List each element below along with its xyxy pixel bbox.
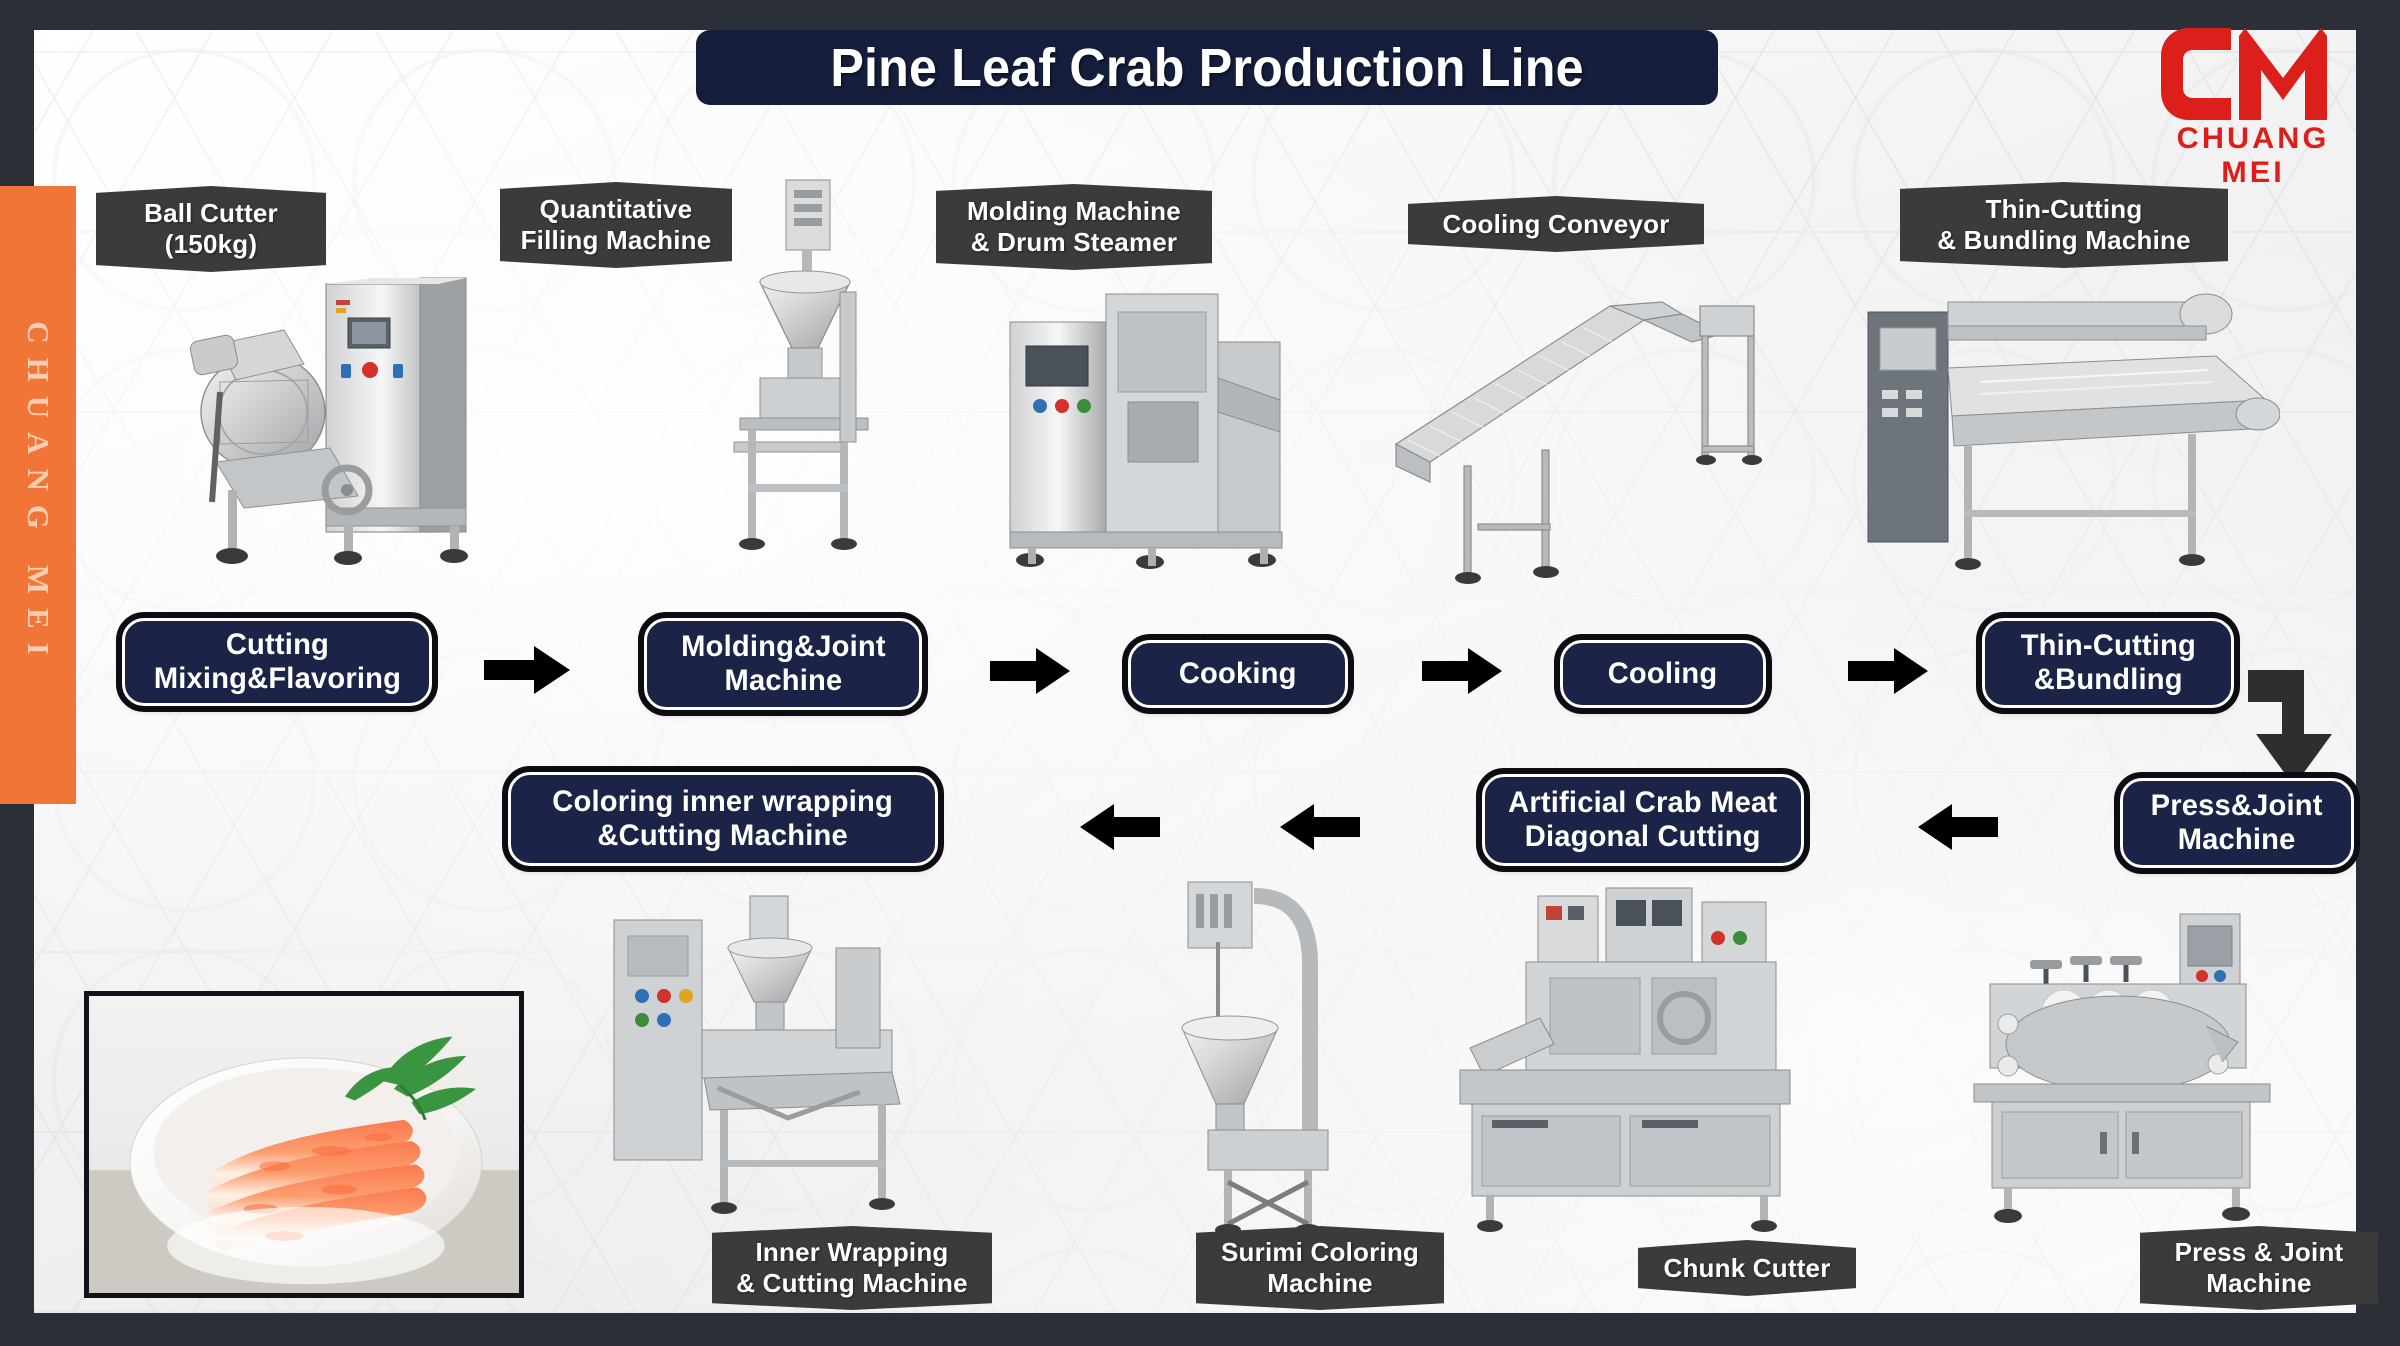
- thin-cutting-bundling-machine-photo: [1860, 282, 2280, 592]
- caption-line-1: Cooling Conveyor: [1442, 209, 1669, 240]
- caption-cooling-conveyor: Cooling Conveyor: [1408, 196, 1704, 252]
- process-line-1: Molding&Joint: [681, 630, 886, 664]
- arrow-elbow-down-icon: [2248, 668, 2356, 788]
- caption-line-1: Molding Machine: [967, 196, 1181, 227]
- arrow-right-icon-3: [1422, 646, 1502, 696]
- arrow-right-icon-2: [990, 646, 1070, 696]
- caption-line-2: & Bundling Machine: [1937, 225, 2190, 256]
- brand-sidebar: CHUANG MEI: [0, 186, 76, 804]
- arrow-left-icon-3: [1918, 802, 1998, 852]
- caption-line-2: Machine: [2206, 1268, 2311, 1299]
- process-line-2: Machine: [681, 664, 886, 698]
- process-cooling[interactable]: Cooling: [1560, 640, 1766, 708]
- process-molding-joint-machine[interactable]: Molding&Joint Machine: [644, 618, 922, 710]
- caption-surimi-coloring-machine: Surimi Coloring Machine: [1196, 1226, 1444, 1310]
- caption-inner-wrapping-cutting-machine: Inner Wrapping & Cutting Machine: [712, 1226, 992, 1310]
- press-joint-machine-photo: [1950, 908, 2330, 1238]
- page-title: Pine Leaf Crab Production Line: [696, 30, 1718, 105]
- arrow-right-icon-4: [1848, 646, 1928, 696]
- process-line-2: Mixing&Flavoring: [153, 662, 400, 696]
- process-line-1: Artificial Crab Meat: [1508, 786, 1777, 820]
- arrow-left-icon-1: [1080, 802, 1160, 852]
- arrow-left-icon-2: [1280, 802, 1360, 852]
- caption-line-1: Thin-Cutting: [1986, 194, 2143, 225]
- ball-cutter-photo: [158, 252, 488, 582]
- process-coloring-inner-wrapping-cutting-machine[interactable]: Coloring inner wrapping &Cutting Machine: [508, 772, 938, 866]
- process-line-1: Press&Joint: [2151, 789, 2323, 823]
- molding-machine-drum-steamer-photo: [1000, 282, 1300, 582]
- process-line-1: Cooking: [1179, 657, 1297, 691]
- process-line-1: Cutting: [153, 628, 400, 662]
- company-logo-wordmark: CHUANG MEI: [2146, 122, 2360, 190]
- cooling-conveyor-photo: [1382, 276, 1782, 600]
- caption-quantitative-filling-machine: Quantitative Filling Machine: [500, 182, 732, 268]
- caption-press-joint-machine: Press & Joint Machine: [2140, 1226, 2378, 1310]
- company-logo: CHUANG MEI: [2148, 22, 2358, 172]
- process-cutting-mixing-flavoring[interactable]: Cutting Mixing&Flavoring: [122, 618, 432, 706]
- brand-sidebar-label: CHUANG MEI: [20, 321, 56, 669]
- caption-thin-cutting-bundling-machine: Thin-Cutting & Bundling Machine: [1900, 182, 2228, 268]
- process-line-2: Diagonal Cutting: [1508, 820, 1777, 854]
- caption-line-2: & Drum Steamer: [971, 227, 1178, 258]
- chunk-cutter-photo: [1430, 878, 1830, 1240]
- caption-line-2: (150kg): [165, 229, 257, 260]
- caption-line-1: Quantitative: [540, 194, 693, 225]
- poster-root: CHUANG MEI Pine Leaf Crab Production Lin…: [0, 0, 2400, 1346]
- process-line-1: Thin-Cutting: [2020, 629, 2195, 663]
- caption-line-2: Machine: [1267, 1268, 1372, 1299]
- caption-line-1: Ball Cutter: [144, 198, 278, 229]
- process-thin-cutting-bundling[interactable]: Thin-Cutting &Bundling: [1982, 618, 2234, 708]
- process-line-2: &Bundling: [2020, 663, 2195, 697]
- caption-line-1: Surimi Coloring: [1221, 1237, 1419, 1268]
- page-title-text: Pine Leaf Crab Production Line: [830, 37, 1583, 99]
- arrow-right-icon-1: [484, 644, 570, 696]
- cm-monogram-icon: [2153, 22, 2353, 126]
- process-press-joint-machine[interactable]: Press&Joint Machine: [2120, 778, 2354, 868]
- process-cooking[interactable]: Cooking: [1128, 640, 1348, 708]
- caption-molding-machine-drum-steamer: Molding Machine & Drum Steamer: [936, 184, 1212, 270]
- process-line-2: Machine: [2151, 823, 2323, 857]
- caption-line-1: Chunk Cutter: [1663, 1253, 1830, 1284]
- process-artificial-crab-meat-diagonal-cutting[interactable]: Artificial Crab Meat Diagonal Cutting: [1482, 774, 1804, 866]
- caption-line-1: Press & Joint: [2175, 1237, 2344, 1268]
- caption-line-2: & Cutting Machine: [736, 1268, 968, 1299]
- process-line-2: &Cutting Machine: [553, 819, 894, 853]
- process-line-1: Coloring inner wrapping: [553, 785, 894, 819]
- caption-ball-cutter: Ball Cutter (150kg): [96, 186, 326, 272]
- inner-wrapping-cutting-machine-photo: [600, 892, 990, 1232]
- surimi-coloring-machine-photo: [1162, 872, 1412, 1242]
- crab-stick-product-photo: [84, 991, 524, 1298]
- caption-line-2: Filling Machine: [521, 225, 712, 256]
- caption-chunk-cutter: Chunk Cutter: [1638, 1240, 1856, 1296]
- process-line-1: Cooling: [1608, 657, 1718, 691]
- caption-line-1: Inner Wrapping: [756, 1237, 949, 1268]
